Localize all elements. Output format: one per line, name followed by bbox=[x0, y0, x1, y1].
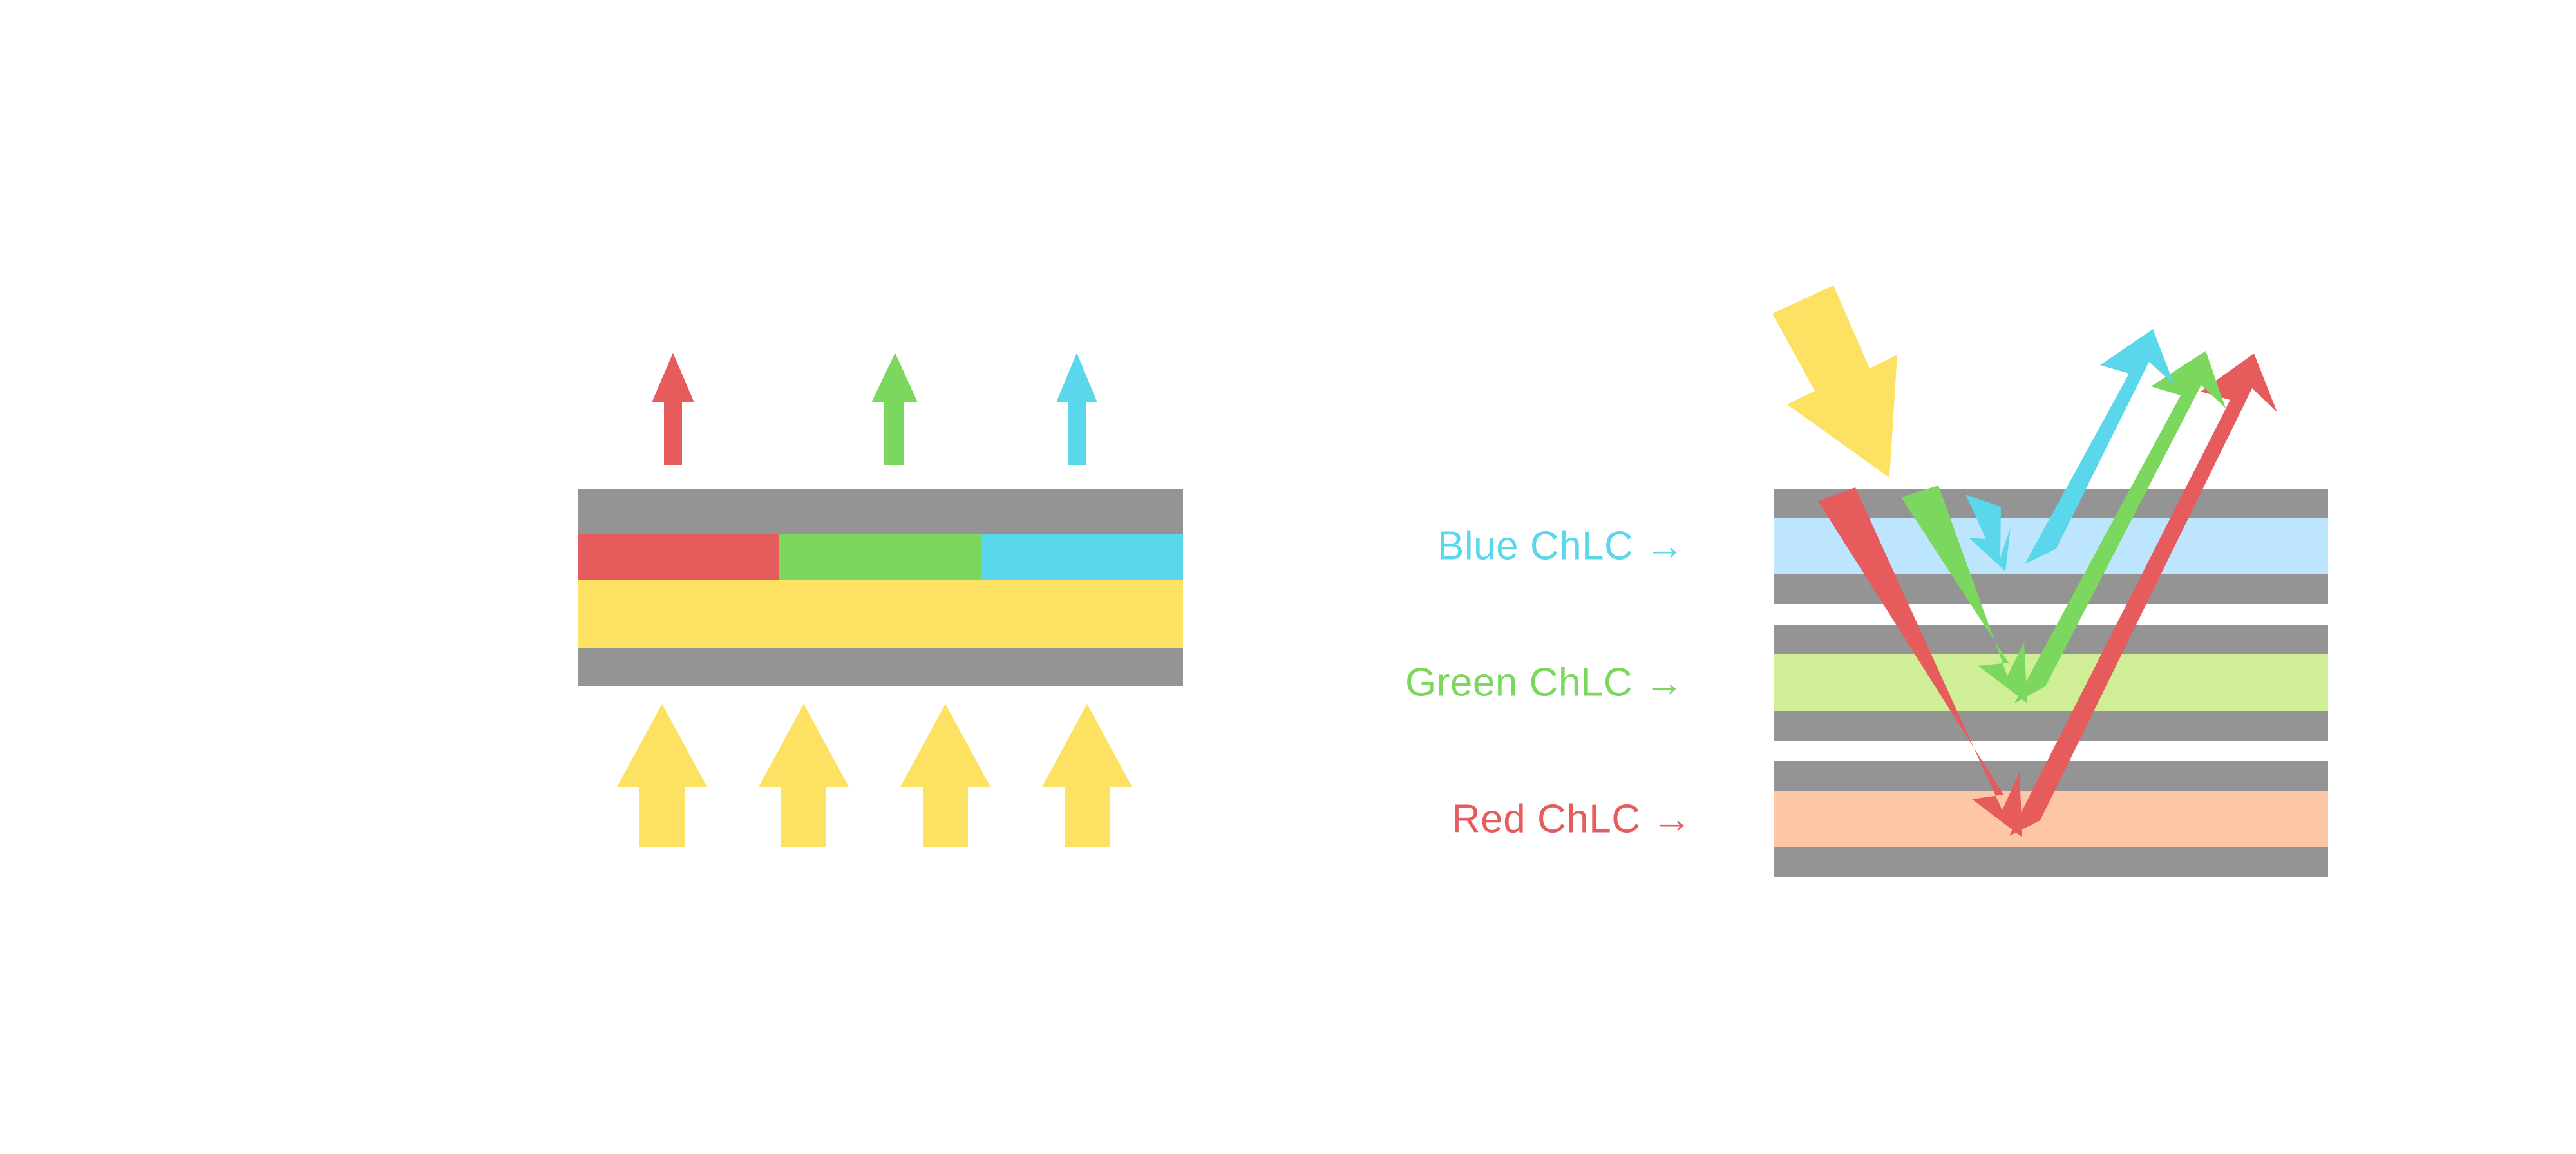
green-chlc-label-text: Green ChLC bbox=[1405, 661, 1633, 705]
incident-white-light-arrow bbox=[1772, 285, 1897, 478]
red-chlc-label: Red ChLC→ bbox=[1452, 797, 1692, 842]
right-electrode-2 bbox=[1774, 574, 2328, 604]
right-electrode-6 bbox=[1774, 847, 2328, 877]
right-red-chlc-layer bbox=[1774, 791, 2328, 847]
blue-chlc-label: Blue ChLC→ bbox=[1437, 524, 1685, 569]
right-electrode-4 bbox=[1774, 711, 2328, 741]
red-chlc-label-arrow-icon: → bbox=[1640, 797, 1692, 842]
green-chlc-label: Green ChLC→ bbox=[1405, 660, 1685, 706]
right-panel-graphics bbox=[0, 0, 2576, 1154]
red-chlc-label-text: Red ChLC bbox=[1452, 797, 1640, 842]
green-chlc-label-arrow-icon: → bbox=[1633, 661, 1685, 705]
right-gap-1 bbox=[1774, 604, 2328, 625]
blue-chlc-label-text: Blue ChLC bbox=[1437, 524, 1633, 569]
blue-chlc-label-arrow-icon: → bbox=[1633, 524, 1685, 569]
diagram-canvas: Blue ChLC→ Green ChLC→ Red ChLC→ bbox=[0, 0, 2576, 1154]
